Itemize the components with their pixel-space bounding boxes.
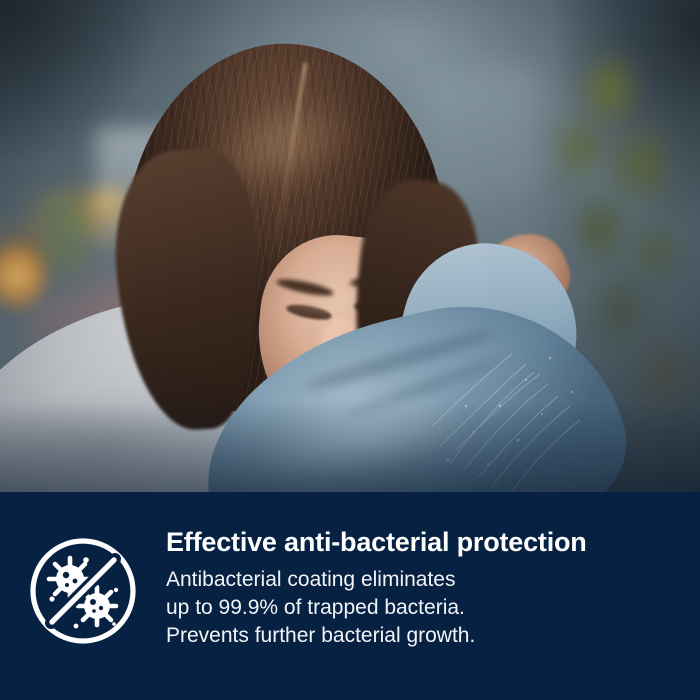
- banner-body-line-2: up to 99.9% of trapped bacteria.: [166, 594, 700, 622]
- banner-heading: Effective anti-bacterial protection: [166, 528, 700, 557]
- banner-body-line-3: Prevents further bacterial growth.: [166, 622, 700, 650]
- banner-body-line-1: Antibacterial coating eliminates: [166, 566, 700, 594]
- droplet-spray: [430, 250, 680, 492]
- no-bacteria-icon: [28, 536, 138, 646]
- feature-banner: Effective anti-bacterial protection Anti…: [0, 492, 700, 700]
- banner-text-block: Effective anti-bacterial protection Anti…: [166, 528, 700, 650]
- anti-bacterial-protection-feature-card: Effective anti-bacterial protection Anti…: [0, 0, 700, 700]
- banner-body: Antibacterial coating eliminates up to 9…: [166, 566, 700, 650]
- hero-photo: [0, 0, 700, 492]
